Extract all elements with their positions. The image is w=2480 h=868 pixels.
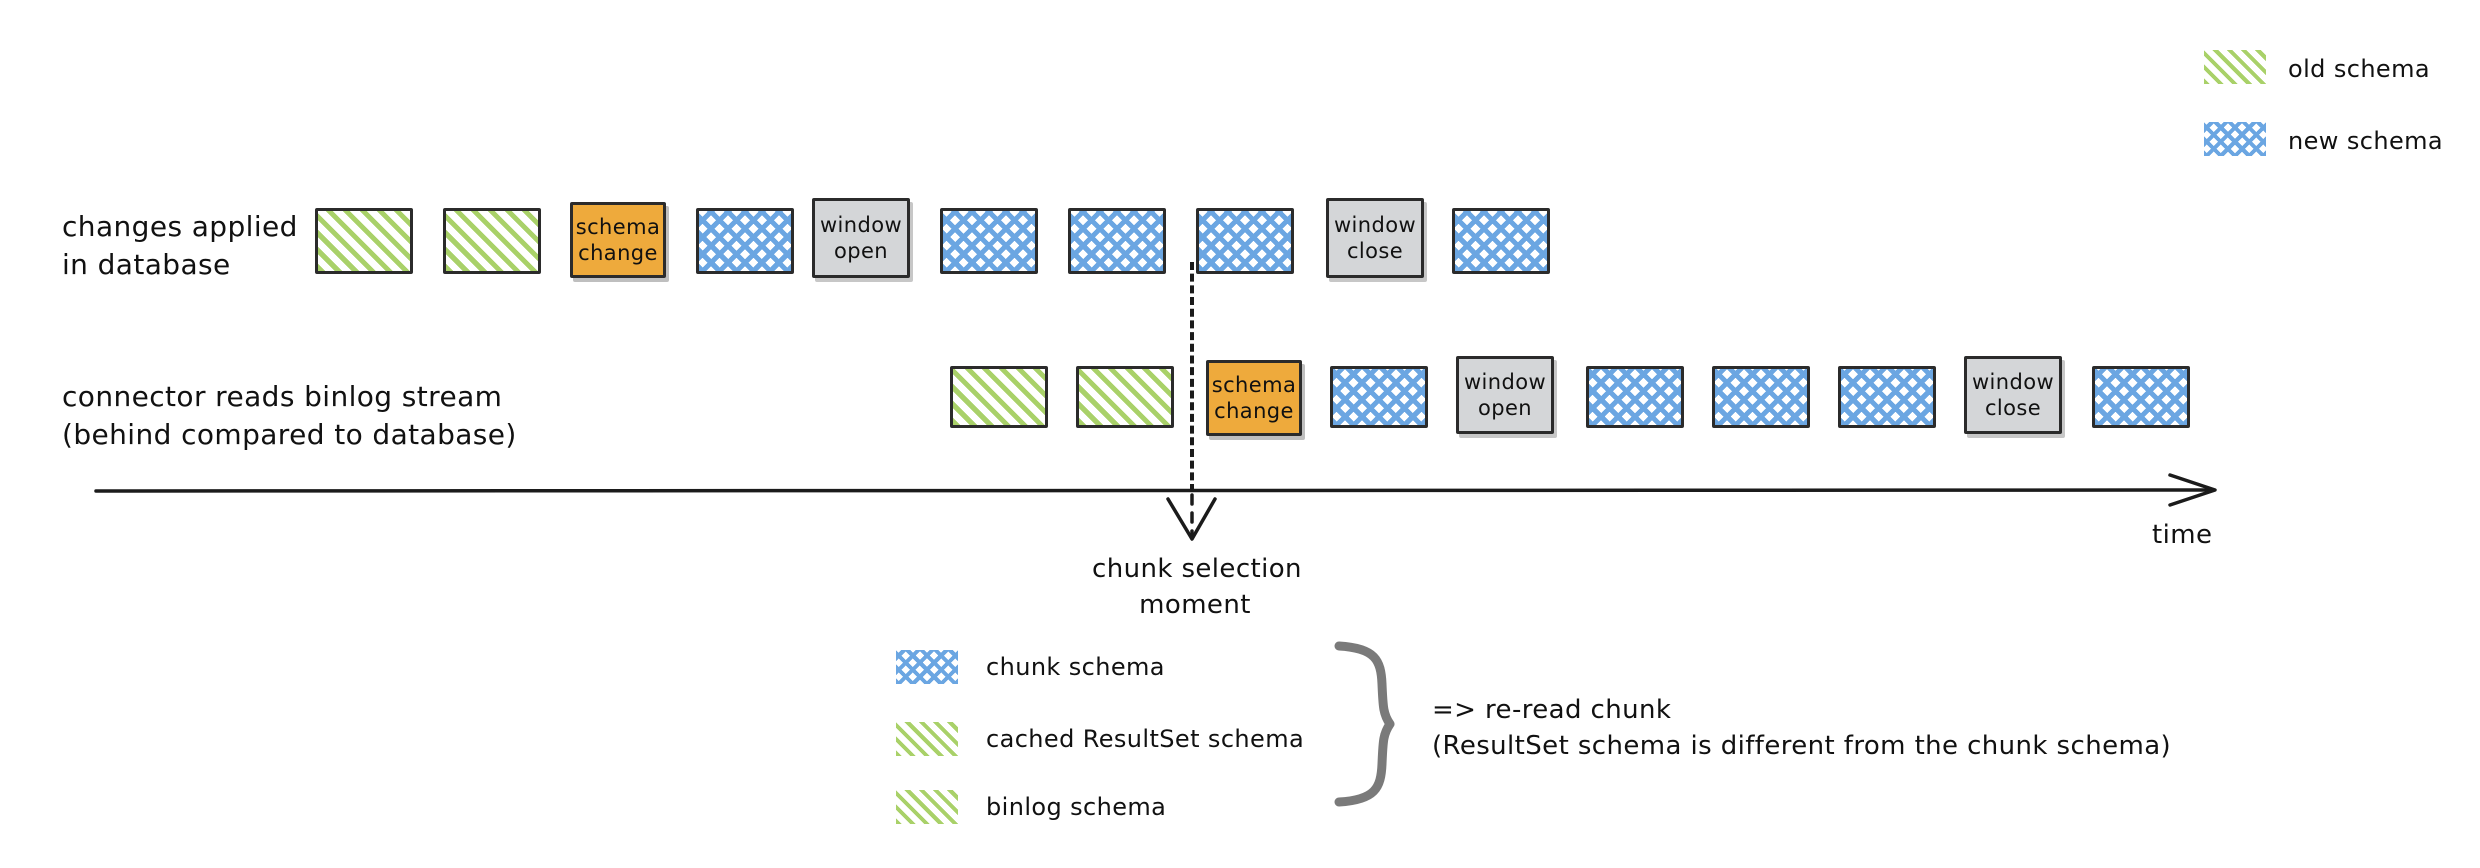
curly-brace [1339,646,1390,802]
binlog-box-10-new-schema[interactable] [2092,366,2190,428]
db-box-9-window-close[interactable]: window close [1326,198,1424,278]
db-box-9-label: window close [1334,212,1416,264]
binlog-box-5-label: window open [1464,369,1546,421]
binlog-box-1-old-schema[interactable] [950,366,1048,428]
time-axis-line [96,475,2215,505]
binlog-box-9-window-close[interactable]: window close [1964,356,2062,434]
binlog-box-3-schema-change[interactable]: schema change [1206,360,1302,436]
legend-swatch-old-schema [2204,50,2266,84]
time-axis-caption: time [2152,520,2212,550]
legend-label-chunk-schema: chunk schema [986,652,1165,682]
row-label-binlog-line2: (behind compared to database) [62,416,517,454]
binlog-box-9-label: window close [1972,369,2054,421]
conclusion-line2: (ResultSet schema is different from the … [1432,728,2171,764]
binlog-box-6-new-schema[interactable] [1586,366,1684,428]
chunk-selection-arrowhead [1168,495,1215,539]
legend-swatch-cached-resultset-schema [896,722,958,756]
binlog-box-5-window-open[interactable]: window open [1456,356,1554,434]
legend-swatch-chunk-schema [896,650,958,684]
db-box-7-new-schema[interactable] [1068,208,1166,274]
db-box-8-new-schema[interactable] [1196,208,1294,274]
legend-label-binlog-schema: binlog schema [986,792,1166,822]
binlog-box-2-old-schema[interactable] [1076,366,1174,428]
db-box-3-schema-change[interactable]: schema change [570,202,666,278]
binlog-box-4-new-schema[interactable] [1330,366,1428,428]
legend-label-cached-resultset-schema: cached ResultSet schema [986,724,1304,754]
legend-label-old-schema: old schema [2288,54,2430,84]
db-box-5-window-open[interactable]: window open [812,198,910,278]
db-box-1-old-schema[interactable] [315,208,413,274]
chunk-selection-caption-line2: moment [1092,588,1298,622]
db-box-10-new-schema[interactable] [1452,208,1550,274]
row-label-binlog-line1: connector reads binlog stream [62,378,502,416]
legend-swatch-new-schema [2204,122,2266,156]
diagram-canvas: old schema new schema changes applied in… [0,0,2480,868]
binlog-box-3-label: schema change [1212,372,1296,424]
binlog-box-7-new-schema[interactable] [1712,366,1810,428]
db-box-4-new-schema[interactable] [696,208,794,274]
db-box-2-old-schema[interactable] [443,208,541,274]
row-label-database-line2: in database [62,246,231,284]
legend-label-new-schema: new schema [2288,126,2443,156]
conclusion-line1: => re-read chunk [1432,692,1671,728]
db-box-5-label: window open [820,212,902,264]
row-label-database-line1: changes applied [62,208,298,246]
chunk-selection-caption-line1: chunk selection [1092,552,1298,586]
binlog-box-8-new-schema[interactable] [1838,366,1936,428]
db-box-3-label: schema change [576,214,660,266]
legend-swatch-binlog-schema [896,790,958,824]
chunk-selection-dashed-line [1190,262,1194,492]
db-box-6-new-schema[interactable] [940,208,1038,274]
